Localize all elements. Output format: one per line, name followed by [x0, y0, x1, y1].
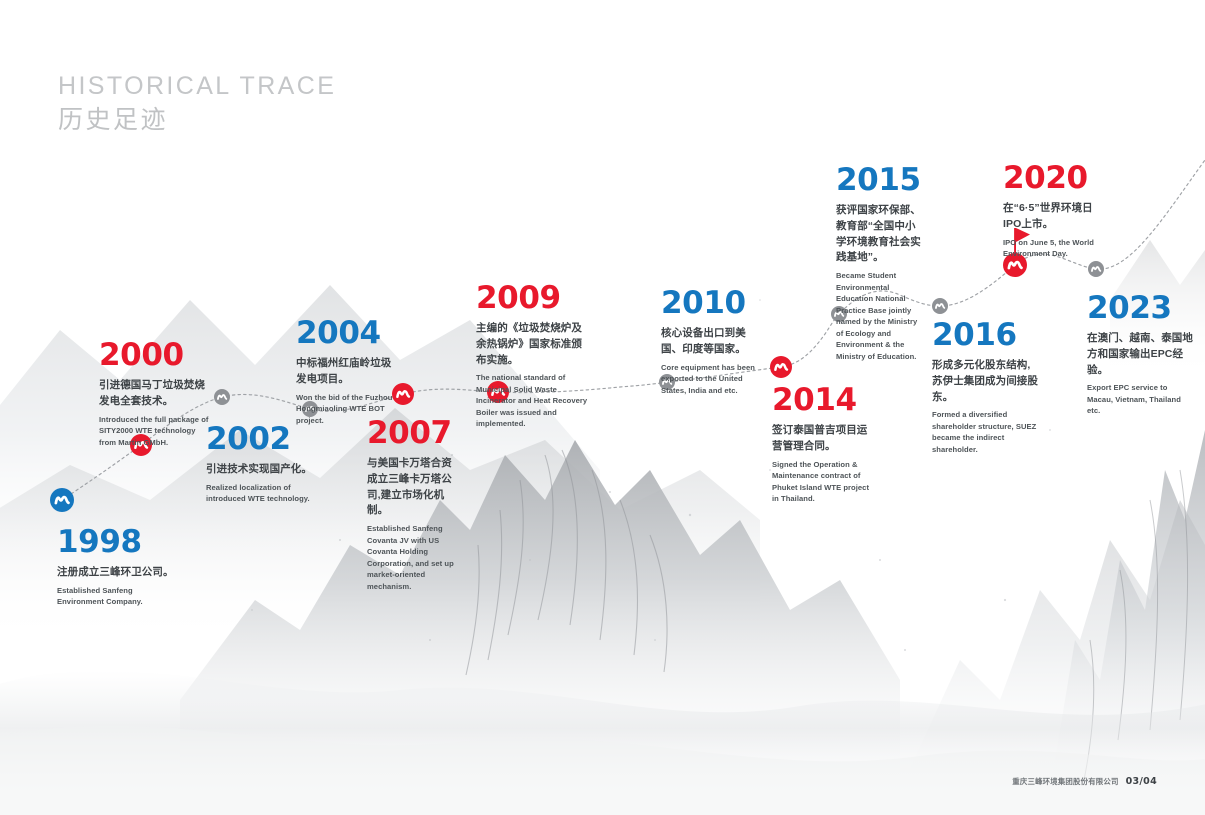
- milestone-description-cn: 在“6·5”世界环境日IPO上市。: [1003, 201, 1103, 233]
- footer-page-number: 03/04: [1126, 776, 1157, 787]
- milestone-year: 2023: [1087, 293, 1195, 324]
- milestone-year: 2000: [99, 340, 211, 371]
- milestone-2007[interactable]: 2007与美国卡万塔合资成立三峰卡万塔公司,建立市场化机制。Establishe…: [367, 418, 457, 592]
- footer-company-name: 重庆三峰环境集团股份有限公司: [1012, 776, 1118, 787]
- milestone-2010[interactable]: 2010核心设备出口到美国、印度等国家。Core equipment has b…: [661, 288, 761, 396]
- milestone-year: 2010: [661, 288, 761, 319]
- milestone-description-cn: 在澳门、越南、泰国地方和国家输出EPC经验。: [1087, 331, 1195, 378]
- milestone-year: 2002: [206, 424, 326, 455]
- milestone-description-cn: 核心设备出口到美国、印度等国家。: [661, 326, 761, 358]
- milestone-description-en: Introduced the full package of SITY2000 …: [99, 414, 211, 449]
- milestone-description-en: Export EPC service to Macau, Vietnam, Th…: [1087, 382, 1195, 417]
- milestone-description-en: IPO on June 5, the World Environment Day…: [1003, 237, 1103, 260]
- milestone-description-cn: 注册成立三峰环卫公司。: [57, 565, 177, 581]
- milestone-2016[interactable]: 2016形成多元化股东结构,苏伊士集团成为间接股东。Formed a diver…: [932, 320, 1040, 455]
- waypoint-marker[interactable]: [214, 389, 230, 405]
- milestone-description-cn: 中标福州红庙岭垃圾发电项目。: [296, 356, 396, 388]
- milestone-2002[interactable]: 2002引进技术实现国产化。Realized localization of i…: [206, 424, 326, 505]
- milestone-year: 2016: [932, 320, 1040, 351]
- milestone-description-en: Established Sanfeng Covanta JV with US C…: [367, 523, 457, 592]
- milestone-2014[interactable]: 2014签订泰国普吉项目运营管理合同。Signed the Operation …: [772, 385, 872, 505]
- milestone-2015[interactable]: 2015获评国家环保部、教育部“全国中小学环境教育社会实践基地”。Became …: [836, 165, 926, 362]
- milestone-marker-2014[interactable]: [770, 356, 792, 378]
- milestone-1998[interactable]: 1998注册成立三峰环卫公司。Established Sanfeng Envir…: [57, 527, 177, 608]
- milestone-description-en: Established Sanfeng Environment Company.: [57, 585, 177, 608]
- waypoint-marker[interactable]: [932, 298, 948, 314]
- milestone-2023[interactable]: 2023在澳门、越南、泰国地方和国家输出EPC经验。Export EPC ser…: [1087, 293, 1195, 417]
- milestone-description-en: Realized localization of introduced WTE …: [206, 482, 326, 505]
- milestone-description-cn: 形成多元化股东结构,苏伊士集团成为间接股东。: [932, 358, 1040, 405]
- milestone-year: 1998: [57, 527, 177, 558]
- page-header: HISTORICAL TRACE 历史足迹: [58, 72, 336, 135]
- milestone-description-en: Signed the Operation & Maintenance contr…: [772, 459, 872, 505]
- page-title-en: HISTORICAL TRACE: [58, 72, 336, 101]
- milestone-description-cn: 主编的《垃圾焚烧炉及余热锅炉》国家标准颁布实施。: [476, 321, 591, 368]
- milestone-year: 2004: [296, 318, 396, 349]
- page-footer: 重庆三峰环境集团股份有限公司 03/04: [1012, 776, 1157, 787]
- milestone-description-cn: 与美国卡万塔合资成立三峰卡万塔公司,建立市场化机制。: [367, 456, 457, 519]
- milestone-description-en: Became Student Environmental Education N…: [836, 270, 926, 362]
- milestone-description-en: Core equipment has been exported to the …: [661, 362, 761, 397]
- milestone-2000[interactable]: 2000引进德国马丁垃圾焚烧发电全套技术。Introduced the full…: [99, 340, 211, 448]
- milestone-description-en: The national standard of Municipal Solid…: [476, 372, 591, 430]
- milestone-description-cn: 签订泰国普吉项目运营管理合同。: [772, 423, 872, 455]
- milestone-2009[interactable]: 2009主编的《垃圾焚烧炉及余热锅炉》国家标准颁布实施。The national…: [476, 283, 591, 430]
- page-title-cn: 历史足迹: [58, 106, 336, 135]
- milestone-2004[interactable]: 2004中标福州红庙岭垃圾发电项目。Won the bid of the Fuz…: [296, 318, 396, 426]
- milestone-year: 2009: [476, 283, 591, 314]
- milestone-marker-1998[interactable]: [50, 488, 74, 512]
- milestone-year: 2014: [772, 385, 872, 416]
- milestone-description-en: Formed a diversified shareholder structu…: [932, 409, 1040, 455]
- milestone-description-cn: 引进德国马丁垃圾焚烧发电全套技术。: [99, 378, 211, 410]
- milestone-description-cn: 获评国家环保部、教育部“全国中小学环境教育社会实践基地”。: [836, 203, 926, 266]
- waypoint-marker[interactable]: [1088, 261, 1104, 277]
- milestone-2020[interactable]: 2020在“6·5”世界环境日IPO上市。IPO on June 5, the …: [1003, 163, 1103, 260]
- milestone-year: 2020: [1003, 163, 1103, 194]
- milestone-year: 2015: [836, 165, 926, 196]
- milestone-year: 2007: [367, 418, 457, 449]
- timeline-page: HISTORICAL TRACE 历史足迹 1998注册成立三峰环卫公司。Est…: [0, 0, 1205, 815]
- milestone-description-cn: 引进技术实现国产化。: [206, 462, 326, 478]
